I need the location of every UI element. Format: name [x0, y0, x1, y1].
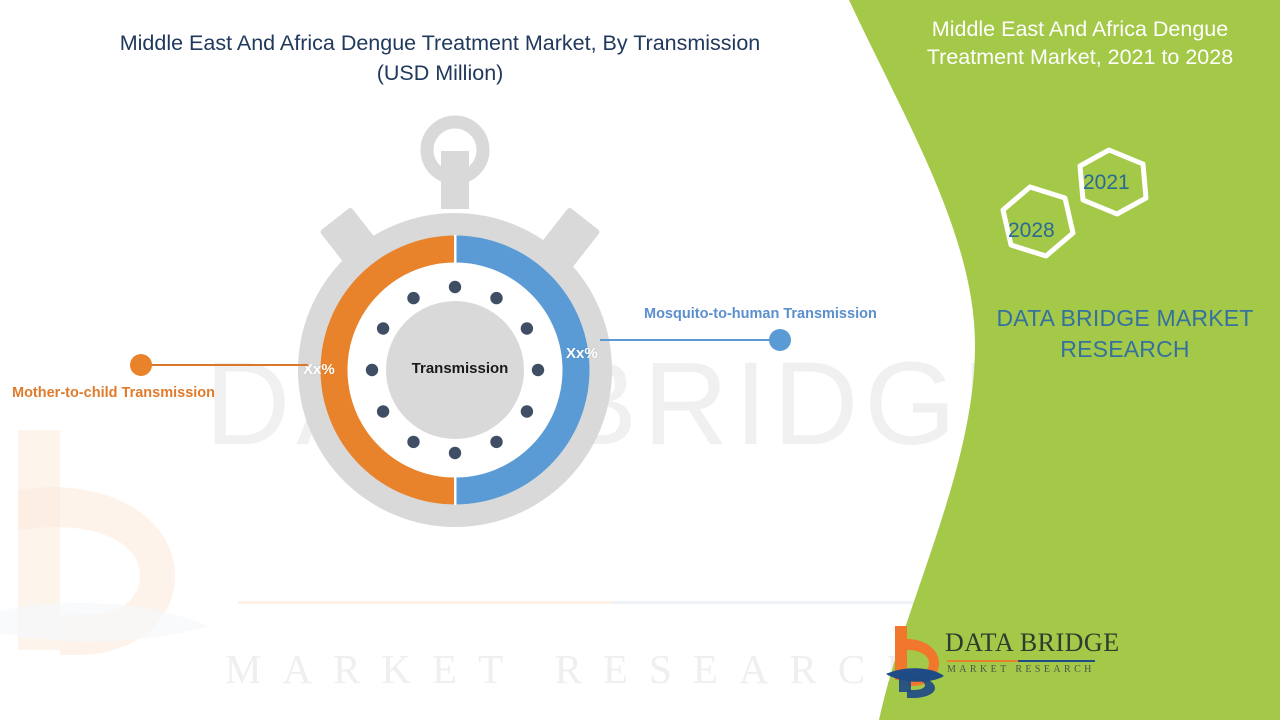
watermark-subtitle: MARKET RESEARCH: [225, 645, 937, 693]
brand-name: DATA BRIDGE MARKET RESEARCH: [975, 303, 1275, 365]
callout-line-right: [600, 339, 780, 341]
panel-title-line2: Treatment Market, 2021 to 2028: [885, 43, 1275, 71]
callout-label-mother-to-child: Mother-to-child Transmission: [12, 385, 215, 401]
panel-title: Middle East And Africa Dengue Treatment …: [885, 15, 1275, 71]
callout-line-left: [140, 364, 308, 366]
watermark-divider: [238, 601, 918, 604]
brand-name-line2: RESEARCH: [975, 334, 1275, 365]
donut-gap-bottom: [454, 477, 457, 505]
hexagon-shapes: [985, 140, 1185, 265]
brand-name-line1: DATA BRIDGE MARKET: [975, 303, 1275, 334]
panel-title-line1: Middle East And Africa Dengue: [885, 15, 1275, 43]
page-title-line2: (USD Million): [40, 58, 840, 88]
footer-logo-subtitle: MARKET RESEARCH: [947, 664, 1095, 675]
watermark-logo-b: [0, 400, 210, 700]
page-title: Middle East And Africa Dengue Treatment …: [40, 28, 840, 88]
hexagon-2021-label: 2021: [1083, 171, 1130, 195]
stopwatch-stem: [441, 151, 469, 209]
footer-logo[interactable]: DATA BRIDGE MARKET RESEARCH: [885, 620, 1120, 705]
data-bridge-logo-icon: [885, 622, 945, 702]
callout-label-mosquito-to-human: Mosquito-to-human Transmission: [644, 306, 877, 322]
hexagon-2028-label: 2028: [1008, 219, 1055, 243]
callout-dot-left[interactable]: [130, 354, 152, 376]
donut-chart-svg: [255, 105, 665, 565]
donut-gap-top: [454, 235, 457, 263]
footer-logo-divider: [947, 660, 1095, 662]
footer-logo-word: DATA BRIDGE: [945, 628, 1120, 658]
donut-center-label: Transmission: [255, 360, 665, 377]
page-title-line1: Middle East And Africa Dengue Treatment …: [40, 28, 840, 58]
donut-chart: Xx% Xx% Transmission: [255, 105, 665, 565]
hexagon-group: 2021 2028: [985, 140, 1185, 265]
infographic-canvas: DATA BRIDGE MARKET RESEARCH Middle East …: [0, 0, 1280, 720]
callout-dot-right[interactable]: [769, 329, 791, 351]
